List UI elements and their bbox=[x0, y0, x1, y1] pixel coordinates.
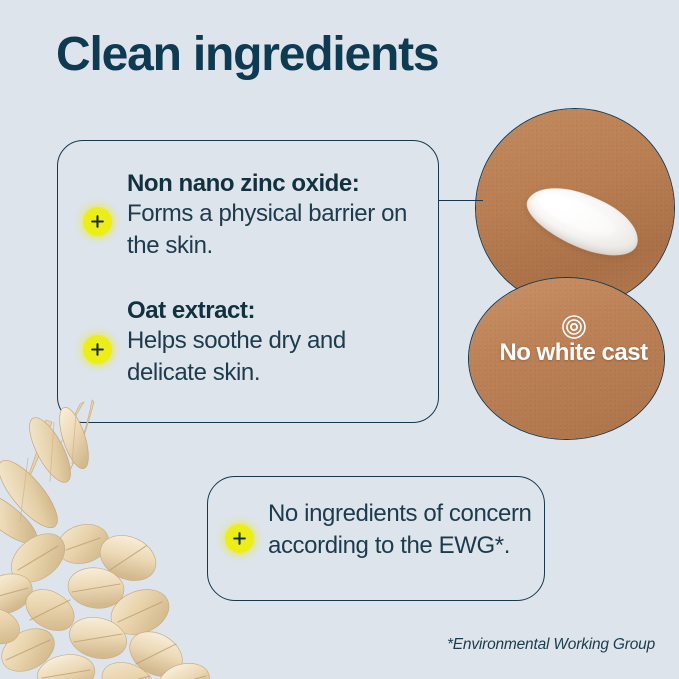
ingredient-item-oat-extract: Oat extract: Helps soothe dry and delica… bbox=[127, 297, 427, 390]
ingredient-title: Oat extract: bbox=[127, 297, 427, 325]
card-photo-connector-line bbox=[439, 200, 483, 201]
no-white-cast-photo: No white cast bbox=[468, 277, 665, 440]
plus-icon bbox=[83, 335, 112, 364]
oat-flakes bbox=[0, 519, 214, 679]
plus-icon bbox=[83, 207, 112, 236]
oat-grains-illustration bbox=[0, 398, 218, 679]
page-title: Clean ingredients bbox=[56, 27, 438, 82]
no-white-cast-label: No white cast bbox=[469, 340, 664, 366]
target-icon bbox=[469, 314, 664, 340]
ewg-statement: No ingredients of concern according to t… bbox=[268, 498, 536, 562]
ingredient-body: Forms a physical barrier on the skin. bbox=[127, 198, 427, 262]
infographic-canvas: Clean ingredients No white cast No bbox=[0, 0, 679, 679]
ingredient-body: Helps soothe dry and delicate skin. bbox=[127, 325, 427, 389]
ingredient-item-zinc-oxide: Non nano zinc oxide: Forms a physical ba… bbox=[127, 170, 427, 263]
plus-icon bbox=[225, 524, 254, 553]
ingredient-title: Non nano zinc oxide: bbox=[127, 170, 427, 198]
